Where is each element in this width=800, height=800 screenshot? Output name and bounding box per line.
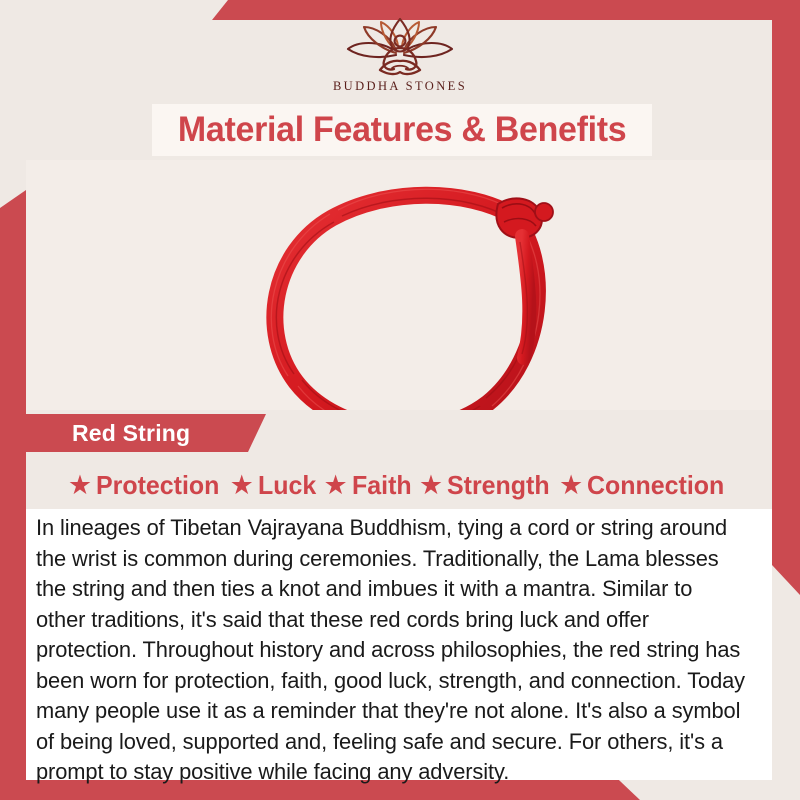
red-string-bracelet-image [252, 168, 582, 410]
description-block: In lineages of Tibetan Vajrayana Buddhis… [26, 509, 772, 780]
feature-label: Strength [447, 470, 550, 501]
page-title-band: Material Features & Benefits [152, 104, 652, 156]
lotus-meditation-figure-icon [334, 15, 466, 77]
feature-label: Faith [352, 470, 412, 501]
material-name-label: Red String [26, 420, 190, 447]
brand-wordmark: BUDDHA STONES [333, 79, 467, 94]
star-icon: ★ [230, 472, 254, 499]
star-icon: ★ [68, 472, 92, 499]
product-photo [26, 160, 772, 410]
decorative-left-red-strip [0, 190, 26, 780]
star-icon: ★ [559, 472, 583, 499]
feature-item: ★ Luck [230, 470, 319, 501]
brand-header: BUDDHA STONES [0, 0, 800, 100]
feature-label: Connection [587, 470, 724, 501]
star-icon: ★ [324, 472, 348, 499]
infographic-root: BUDDHA STONES Material Features & Benefi… [0, 0, 800, 800]
page-title: Material Features & Benefits [178, 110, 626, 150]
feature-label: Protection [96, 470, 219, 501]
brand-logo: BUDDHA STONES [333, 7, 467, 94]
material-name-banner: Red String [26, 414, 266, 452]
feature-item: ★ Faith [324, 470, 414, 501]
feature-item: ★ Strength [419, 470, 554, 501]
decorative-right-red-strip [772, 20, 800, 595]
description-paragraph: In lineages of Tibetan Vajrayana Buddhis… [36, 513, 745, 788]
feature-label: Luck [258, 470, 316, 501]
star-icon: ★ [419, 472, 443, 499]
feature-item: ★ Connection [559, 470, 730, 501]
feature-item: ★ Protection [68, 470, 225, 501]
feature-list: ★ Protection ★ Luck ★ Faith ★ Strength ★… [26, 462, 772, 508]
